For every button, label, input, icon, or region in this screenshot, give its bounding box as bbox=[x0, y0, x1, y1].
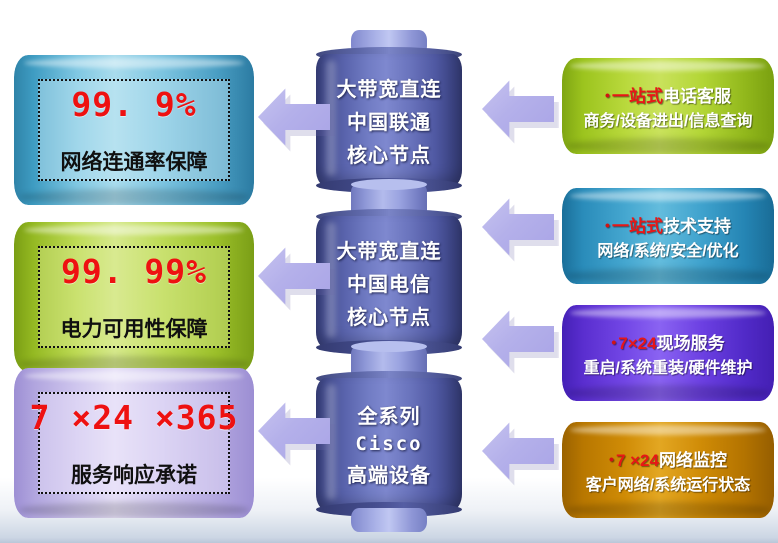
service-network-monitoring-title: •7 ×24网络监控 bbox=[609, 446, 727, 471]
center-node-unicom-text: 大带宽直连 中国联通 核心节点 bbox=[316, 54, 462, 186]
service-network-monitoring-highlight: 7 ×24 bbox=[616, 451, 659, 470]
service-onsite-service-subtitle: 重启/系统重装/硬件维护 bbox=[584, 361, 753, 378]
cylinder-shadow bbox=[19, 189, 249, 205]
service-network-monitoring-content: •7 ×24网络监控 客户网络/系统运行状态 bbox=[562, 422, 774, 518]
collar-cap bbox=[351, 179, 427, 190]
center-node-unicom-line3: 核心节点 bbox=[347, 139, 431, 168]
service-tech-support-subtitle: 网络/系统/安全/优化 bbox=[597, 244, 738, 261]
center-node-telecom-line2: 中国电信 bbox=[347, 268, 431, 297]
bullet-icon: • bbox=[611, 334, 616, 350]
metric-network-availability-panel: 99. 9% 网络连通率保障 bbox=[38, 79, 230, 181]
service-network-monitoring-subtitle: 客户网络/系统运行状态 bbox=[586, 478, 750, 495]
center-node-telecom-line3: 核心节点 bbox=[347, 301, 431, 330]
service-onsite-service-title-text: 现场服务 bbox=[657, 334, 725, 353]
service-onsite-service-title: •7×24现场服务 bbox=[611, 329, 724, 354]
cylinder-gloss bbox=[24, 58, 245, 68]
service-tech-support[interactable]: •一站式技术支持 网络/系统/安全/优化 bbox=[562, 188, 774, 284]
flow-arrow-left-2 bbox=[258, 245, 330, 307]
metric-power-availability-caption: 电力可用性保障 bbox=[61, 313, 208, 343]
center-node-unicom[interactable]: 大带宽直连 中国联通 核心节点 bbox=[316, 54, 462, 186]
flow-arrow-left-5 bbox=[482, 196, 554, 258]
service-tech-support-title-text: 技术支持 bbox=[663, 217, 731, 236]
service-tech-support-highlight: 一站式 bbox=[612, 217, 663, 236]
flow-arrow-left-1 bbox=[258, 86, 330, 148]
metric-service-response-caption: 服务响应承诺 bbox=[71, 459, 197, 489]
diagram-canvas: 大带宽直连 中国联通 核心节点 大带宽直连 中国电信 核心节点 全系列 Cisc… bbox=[0, 0, 778, 543]
center-node-cisco-text: 全系列 Cisco 高端设备 bbox=[316, 378, 462, 510]
center-node-cisco-line2: Cisco bbox=[355, 433, 422, 455]
bullet-icon: • bbox=[605, 217, 610, 233]
flow-arrow-left-7 bbox=[482, 420, 554, 482]
center-node-telecom-text: 大带宽直连 中国电信 核心节点 bbox=[316, 216, 462, 348]
service-phone-service[interactable]: •一站式电话客服 商务/设备进出/信息查询 bbox=[562, 58, 774, 154]
cylinder-gloss bbox=[24, 225, 245, 235]
metric-service-response[interactable]: 7 ×24 ×365 服务响应承诺 bbox=[14, 368, 254, 518]
service-phone-service-subtitle: 商务/设备进出/信息查询 bbox=[584, 114, 753, 131]
service-phone-service-title: •一站式电话客服 bbox=[605, 82, 731, 107]
service-phone-service-highlight: 一站式 bbox=[612, 87, 663, 106]
cylinder-gloss bbox=[24, 371, 245, 381]
bullet-icon: • bbox=[605, 87, 610, 103]
center-node-cisco[interactable]: 全系列 Cisco 高端设备 bbox=[316, 378, 462, 510]
metric-power-availability-value: 99. 99% bbox=[61, 252, 207, 291]
bullet-icon: • bbox=[609, 451, 614, 467]
metric-network-availability-value: 99. 9% bbox=[71, 85, 196, 124]
flow-arrow-left-3 bbox=[258, 400, 330, 462]
collar-cap bbox=[351, 341, 427, 352]
service-network-monitoring-title-text: 网络监控 bbox=[659, 451, 727, 470]
center-stack-bottom-cap bbox=[351, 508, 427, 532]
flow-arrow-left-6 bbox=[482, 308, 554, 370]
center-node-telecom-line1: 大带宽直连 bbox=[337, 235, 442, 264]
service-onsite-service-content: •7×24现场服务 重启/系统重装/硬件维护 bbox=[562, 305, 774, 401]
metric-power-availability[interactable]: 99. 99% 电力可用性保障 bbox=[14, 222, 254, 372]
center-node-telecom[interactable]: 大带宽直连 中国电信 核心节点 bbox=[316, 216, 462, 348]
metric-service-response-value: 7 ×24 ×365 bbox=[30, 398, 239, 437]
service-tech-support-title: •一站式技术支持 bbox=[605, 212, 731, 237]
metric-network-availability-caption: 网络连通率保障 bbox=[61, 146, 208, 176]
metric-network-availability[interactable]: 99. 9% 网络连通率保障 bbox=[14, 55, 254, 205]
service-tech-support-content: •一站式技术支持 网络/系统/安全/优化 bbox=[562, 188, 774, 284]
flow-arrow-left-4 bbox=[482, 78, 554, 140]
service-phone-service-content: •一站式电话客服 商务/设备进出/信息查询 bbox=[562, 58, 774, 154]
center-node-unicom-line2: 中国联通 bbox=[347, 106, 431, 135]
service-network-monitoring[interactable]: •7 ×24网络监控 客户网络/系统运行状态 bbox=[562, 422, 774, 518]
metric-service-response-panel: 7 ×24 ×365 服务响应承诺 bbox=[38, 392, 230, 494]
service-onsite-service-highlight: 7×24 bbox=[618, 334, 656, 353]
service-phone-service-title-text: 电话客服 bbox=[663, 87, 731, 106]
service-onsite-service[interactable]: •7×24现场服务 重启/系统重装/硬件维护 bbox=[562, 305, 774, 401]
center-node-cisco-line3: 高端设备 bbox=[347, 459, 431, 488]
cylinder-shadow bbox=[19, 502, 249, 518]
center-node-unicom-line1: 大带宽直连 bbox=[337, 73, 442, 102]
center-node-cisco-line1: 全系列 bbox=[358, 400, 421, 429]
metric-power-availability-panel: 99. 99% 电力可用性保障 bbox=[38, 246, 230, 348]
